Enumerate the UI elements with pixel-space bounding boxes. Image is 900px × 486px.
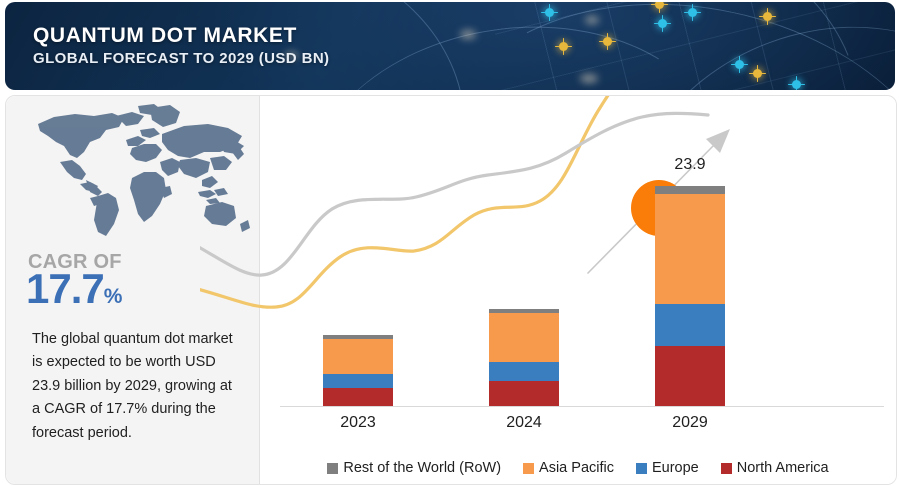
header-light-blur	[585, 16, 599, 24]
header-text-block: QUANTUM DOT MARKET GLOBAL FORECAST TO 20…	[33, 24, 329, 67]
header-glint-cyan-icon	[735, 60, 744, 69]
legend-item-rest-of-the-world-row[interactable]: Rest of the World (RoW)	[327, 460, 501, 476]
cagr-value: 17.7%	[26, 268, 122, 310]
bar-segment-europe	[655, 304, 725, 346]
cagr-number: 17.7	[26, 265, 104, 312]
bar-segment-north-america	[489, 381, 559, 406]
world-map-icon	[20, 100, 252, 240]
legend-swatch-icon	[523, 463, 534, 474]
chart-legend: Rest of the World (RoW)Asia PacificEurop…	[260, 460, 896, 476]
x-axis-tick-2029: 2029	[630, 414, 750, 432]
x-axis-line	[280, 406, 884, 407]
legend-swatch-icon	[721, 463, 732, 474]
infographic-root: QUANTUM DOT MARKET GLOBAL FORECAST TO 20…	[0, 0, 900, 486]
header-glint-gold-icon	[763, 12, 772, 21]
bar-2023	[323, 335, 393, 406]
bar-segment-rest-of-the-world-row	[655, 186, 725, 194]
bar-total-label: 23.9	[645, 156, 735, 174]
header-glint-gold-icon	[753, 69, 762, 78]
legend-item-asia-pacific[interactable]: Asia Pacific	[523, 460, 614, 476]
bar-segment-asia-pacific	[655, 194, 725, 304]
header-glint-cyan-icon	[688, 8, 697, 17]
left-summary-panel: CAGR OF 17.7% The global quantum dot mar…	[6, 96, 259, 484]
legend-label: Europe	[652, 460, 699, 476]
cagr-percent-sign: %	[104, 285, 123, 308]
legend-label: North America	[737, 460, 829, 476]
legend-label: Rest of the World (RoW)	[343, 460, 501, 476]
bar-segment-europe	[323, 374, 393, 388]
bar-chart-plot: 2023202423.92029	[260, 96, 896, 484]
header-glint-gold-icon	[603, 37, 612, 46]
x-axis-tick-2023: 2023	[298, 414, 418, 432]
bar-segment-north-america	[323, 388, 393, 406]
header-glint-cyan-icon	[658, 19, 667, 28]
bar-2024	[489, 309, 559, 406]
legend-label: Asia Pacific	[539, 460, 614, 476]
legend-item-north-america[interactable]: North America	[721, 460, 829, 476]
header-glint-cyan-icon	[545, 8, 554, 17]
bar-2029	[655, 186, 725, 406]
chart-panel: 2023202423.92029 Rest of the World (RoW)…	[260, 96, 896, 484]
x-axis-tick-2024: 2024	[464, 414, 584, 432]
bar-segment-europe	[489, 362, 559, 381]
header-light-blur	[580, 74, 598, 83]
legend-item-europe[interactable]: Europe	[636, 460, 699, 476]
header-banner: QUANTUM DOT MARKET GLOBAL FORECAST TO 20…	[5, 2, 895, 90]
header-glint-gold-icon	[559, 42, 568, 51]
header-glint-cyan-icon	[792, 80, 801, 89]
bar-segment-asia-pacific	[323, 339, 393, 374]
legend-swatch-icon	[636, 463, 647, 474]
bar-segment-north-america	[655, 346, 725, 406]
page-subtitle: GLOBAL FORECAST TO 2029 (USD BN)	[33, 50, 329, 67]
page-title: QUANTUM DOT MARKET	[33, 24, 329, 47]
content-card: CAGR OF 17.7% The global quantum dot mar…	[5, 95, 897, 485]
header-light-blur	[460, 30, 476, 39]
legend-swatch-icon	[327, 463, 338, 474]
summary-description: The global quantum dot market is expecte…	[32, 328, 238, 445]
bar-segment-asia-pacific	[489, 313, 559, 362]
